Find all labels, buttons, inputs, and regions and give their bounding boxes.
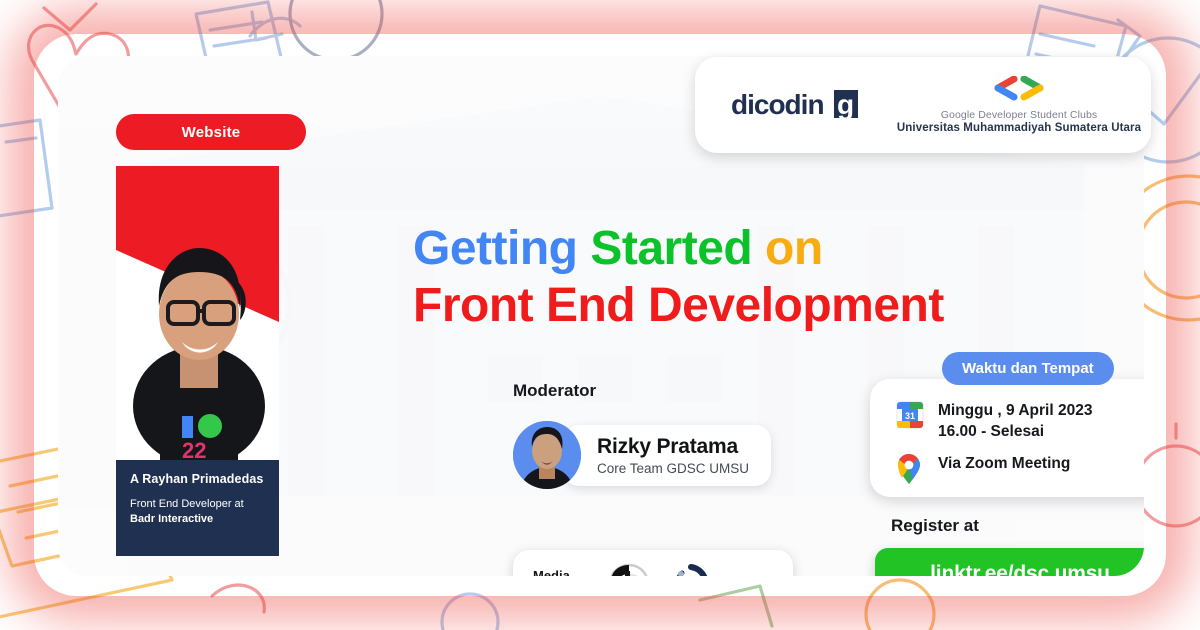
- title-word-started: Started: [590, 222, 752, 275]
- schedule-card: 31 Minggu , 9 April 2023 16.00 - Selesai…: [870, 379, 1144, 497]
- schedule-date-row: 31 Minggu , 9 April 2023 16.00 - Selesai: [896, 401, 1144, 442]
- register-link-button[interactable]: linktr.ee/dsc.umsu: [875, 548, 1144, 576]
- media-partner-logos: [607, 562, 713, 576]
- schedule-time: 16.00 - Selesai: [938, 422, 1092, 443]
- media-partner-label-line1: Media: [533, 568, 579, 576]
- partner-logo-bar: dicodin g Google Developer Student Clubs…: [695, 57, 1151, 153]
- media-partner-card: Media Partner: [513, 550, 793, 576]
- svg-text:22: 22: [182, 438, 206, 460]
- svg-text:g: g: [837, 89, 854, 120]
- schedule-date: Minggu , 9 April 2023: [938, 401, 1092, 422]
- code-brackets-icon: [988, 76, 1050, 102]
- schedule-badge: Waktu dan Tempat: [942, 352, 1114, 385]
- title-line-1: Getting Started on: [413, 224, 944, 275]
- register-label: Register at: [891, 516, 979, 536]
- moderator-label: Moderator: [513, 381, 596, 401]
- schedule-datetime: Minggu , 9 April 2023 16.00 - Selesai: [938, 401, 1092, 442]
- google-calendar-icon: 31: [896, 401, 926, 434]
- speaker-name: A Rayhan Primadedas: [130, 472, 265, 486]
- google-maps-pin-icon: [896, 454, 926, 489]
- speaker-role-line2: Badr Interactive: [130, 512, 265, 527]
- title-line-2: Front End Development: [413, 281, 944, 332]
- gdsc-line1: Google Developer Student Clubs: [895, 109, 1143, 121]
- calendar-day-number: 31: [905, 411, 915, 421]
- moderator-name: Rizky Pratama: [597, 435, 749, 459]
- title-word-on: on: [765, 222, 823, 275]
- website-badge-label: Website: [182, 124, 241, 141]
- title-word-getting: Getting: [413, 222, 577, 275]
- moderator-role: Core Team GDSC UMSU: [597, 461, 749, 476]
- speaker-role-line1: Front End Developer at: [130, 497, 265, 512]
- event-title: Getting Started on Front End Development: [413, 224, 944, 332]
- svg-text:dicodin: dicodin: [731, 89, 824, 120]
- moderator-row: Rizky Pratama Core Team GDSC UMSU: [513, 421, 771, 489]
- media-partner-logo-2-icon: [669, 562, 713, 576]
- media-partner-label: Media Partner: [533, 568, 579, 576]
- gdsc-logo-block: Google Developer Student Clubs Universit…: [895, 76, 1151, 134]
- moderator-avatar: [513, 421, 581, 489]
- gdsc-line2: Universitas Muhammadiyah Sumatera Utara: [895, 122, 1143, 134]
- speaker-name-plate: A Rayhan Primadedas Front End Developer …: [116, 460, 279, 556]
- register-link-text: linktr.ee/dsc.umsu: [930, 562, 1110, 576]
- media-partner-logo-1-icon: [607, 562, 651, 576]
- schedule-badge-label: Waktu dan Tempat: [962, 360, 1094, 377]
- moderator-plate: Rizky Pratama Core Team GDSC UMSU: [563, 425, 771, 486]
- speaker-photo: 22: [120, 210, 278, 460]
- schedule-location: Via Zoom Meeting: [938, 454, 1070, 475]
- speaker-card: 22 A Rayhan Primadedas Front End Develop…: [116, 166, 279, 556]
- schedule-location-row: Via Zoom Meeting: [896, 454, 1144, 489]
- website-badge[interactable]: Website: [116, 114, 306, 150]
- dicoding-logo: dicodin g: [695, 88, 895, 122]
